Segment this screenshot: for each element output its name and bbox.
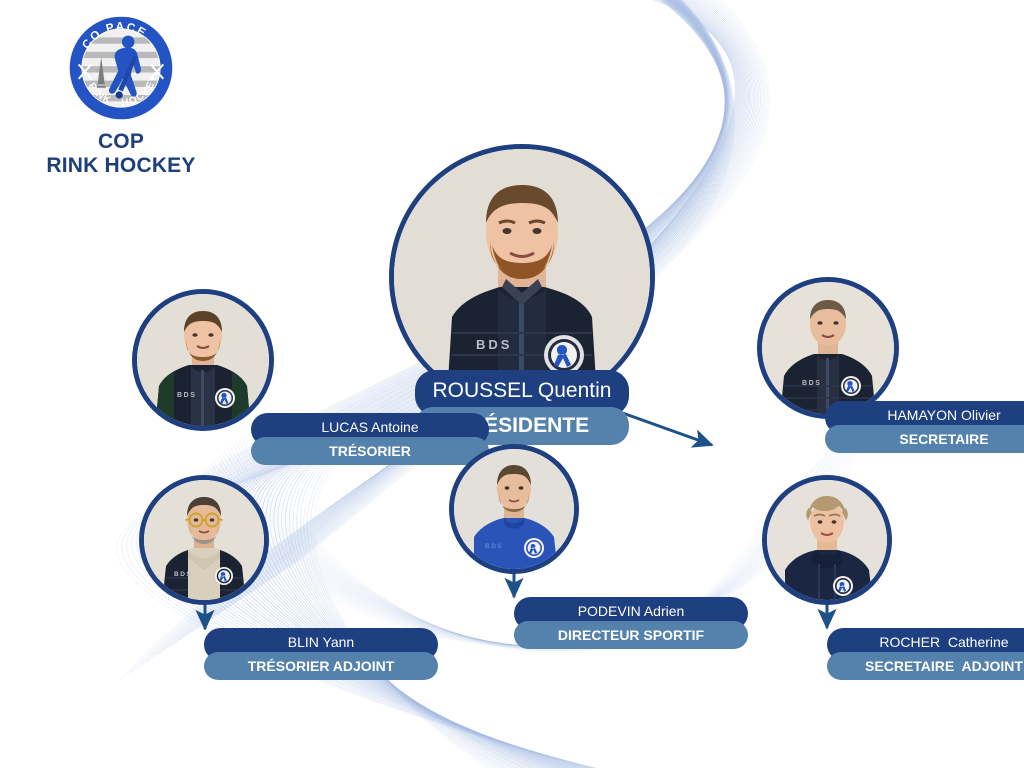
deputy-secretary-role: SECRETAIRE ADJOINT <box>827 652 1024 680</box>
org-node-deputy-secretary[interactable]: ROCHER Catherine SECRETAIRE ADJOINT <box>762 475 892 605</box>
sport-director-photo: BDS <box>449 444 579 574</box>
club-name-line-2: RINK HOCKEY <box>42 154 200 178</box>
portrait-man-beard-navy-puffer-jacket-icon: BDS <box>394 149 650 405</box>
deputy-secretary-labels: ROCHER Catherine SECRETAIRE ADJOINT <box>827 628 1024 680</box>
club-name: COP RINK HOCKEY <box>42 130 200 178</box>
club-name-line-1: COP <box>42 130 200 154</box>
svg-text:BDS: BDS <box>802 380 822 387</box>
rink-hockey-club-badge-icon: CO PACE RINK - HOCKEY <box>67 14 175 122</box>
portrait-man-short-hair-navy-puffer-jacket-icon: BDS <box>762 282 894 414</box>
deputy-secretary-photo <box>762 475 892 605</box>
svg-text:BDS: BDS <box>476 337 512 352</box>
secretary-role: SECRETAIRE <box>825 425 1024 453</box>
treasurer-photo: BDS <box>132 289 274 431</box>
svg-text:BDS: BDS <box>177 392 197 399</box>
club-logo-block: CO PACE RINK - HOCKEY COP RINK HOCKEY <box>42 14 200 178</box>
org-node-sport-director[interactable]: BDS PODEVIN Adrien DIRECTEUR SPORTIF <box>449 444 579 574</box>
portrait-man-blue-tshirt-icon: BDS <box>454 449 574 569</box>
portrait-woman-short-blonde-hair-navy-hoodie-icon <box>767 480 887 600</box>
connector-president-to-secretary <box>617 411 712 445</box>
svg-text:BDS: BDS <box>174 571 192 578</box>
svg-text:BDS: BDS <box>485 543 503 550</box>
sport-director-labels: PODEVIN Adrien DIRECTEUR SPORTIF <box>514 597 748 649</box>
org-node-secretary[interactable]: BDS HAMAYON Olivier SECRETAIRE <box>757 277 993 419</box>
deputy-treasurer-photo: BDS <box>139 475 269 605</box>
deputy-treasurer-role: TRÉSORIER ADJOINT <box>204 652 438 680</box>
org-node-president[interactable]: BDS ROUSSEL Quentin PRÉSIDENTE <box>389 144 655 410</box>
deputy-treasurer-labels: BLIN Yann TRÉSORIER ADJOINT <box>204 628 438 680</box>
portrait-man-glasses-grey-beard-navy-vest-icon: BDS <box>144 480 264 600</box>
secretary-labels: HAMAYON Olivier SECRETAIRE <box>825 401 1024 453</box>
secretary-photo: BDS <box>757 277 899 419</box>
org-node-deputy-treasurer[interactable]: BDS BLIN Yann TRÉSORIER ADJOINT <box>139 475 269 605</box>
portrait-man-beard-navy-vest-icon: BDS <box>137 294 269 426</box>
sport-director-role: DIRECTEUR SPORTIF <box>514 621 748 649</box>
org-node-treasurer[interactable]: BDS LUCAS Antoine TRÉSORIER <box>132 289 368 431</box>
